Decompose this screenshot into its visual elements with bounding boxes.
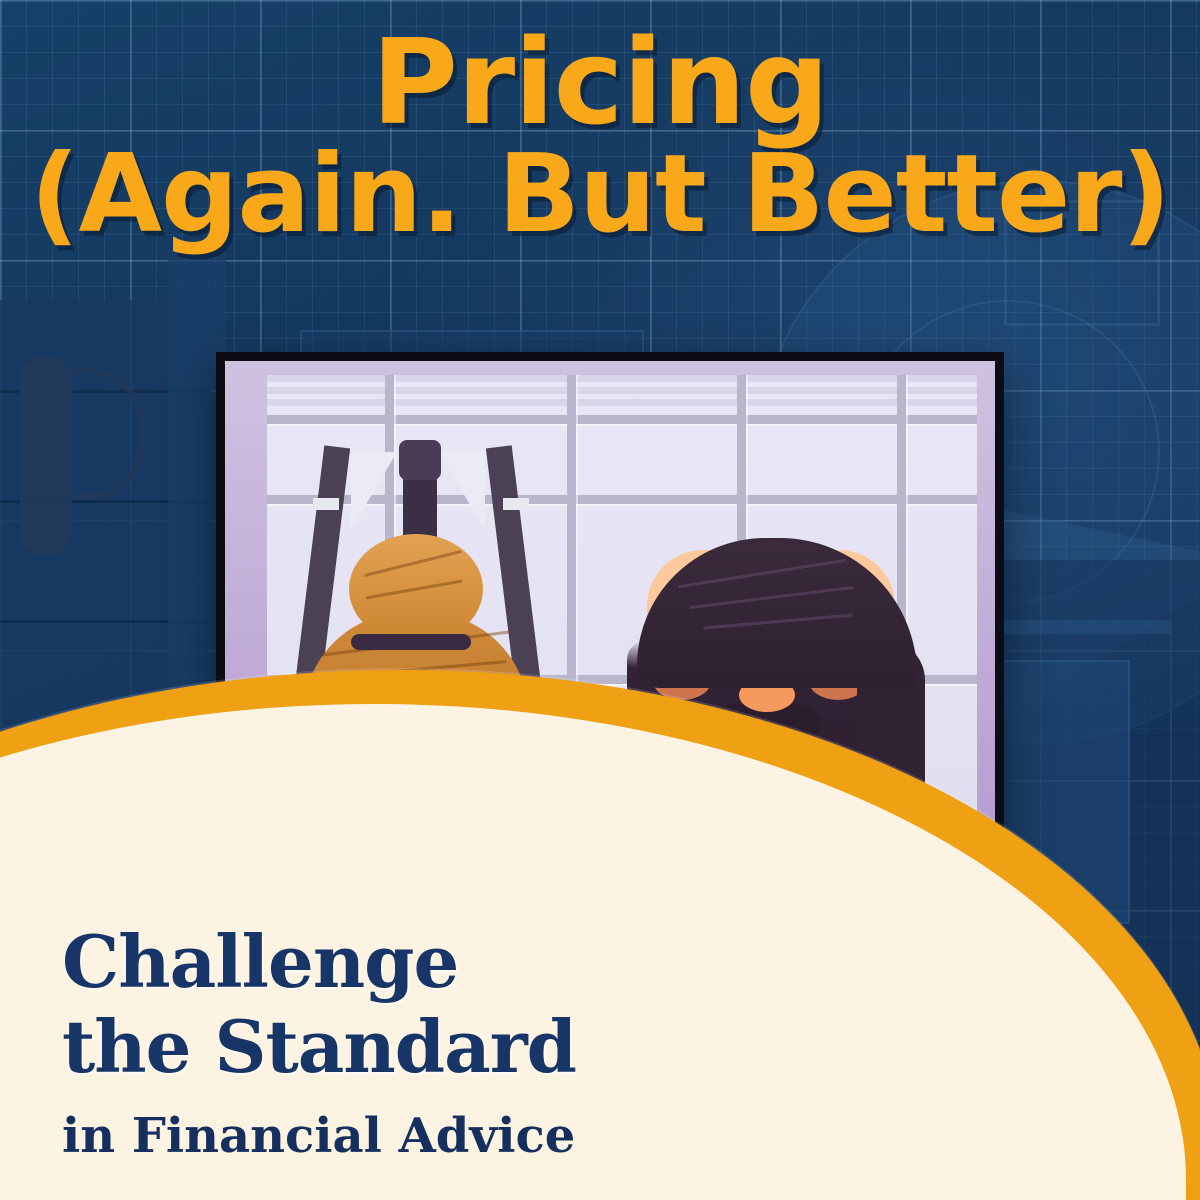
person-left-clip-right — [503, 498, 529, 510]
bg-lamp-silhouette — [20, 356, 72, 556]
person-left-tie-knot — [399, 440, 441, 480]
person-left-collar-right — [439, 452, 485, 530]
panel-line-1: Challenge — [62, 923, 702, 1001]
person-left-clip-left — [313, 498, 339, 510]
panel-line-2: the Standard — [62, 1008, 702, 1086]
poster-canvas: Pricing (Again. But Better) — [0, 0, 1200, 1200]
person-left-hair-bun — [349, 534, 483, 644]
panel-text-block: Challenge the Standard in Financial Advi… — [62, 923, 702, 1165]
headline: Pricing (Again. But Better) — [0, 26, 1200, 247]
person-left-collar-left — [351, 452, 397, 530]
headline-line-2: (Again. But Better) — [10, 143, 1190, 247]
person-left-hair-band — [351, 634, 471, 650]
panel-line-3: in Financial Advice — [62, 1108, 702, 1164]
headline-line-1: Pricing — [10, 26, 1190, 139]
